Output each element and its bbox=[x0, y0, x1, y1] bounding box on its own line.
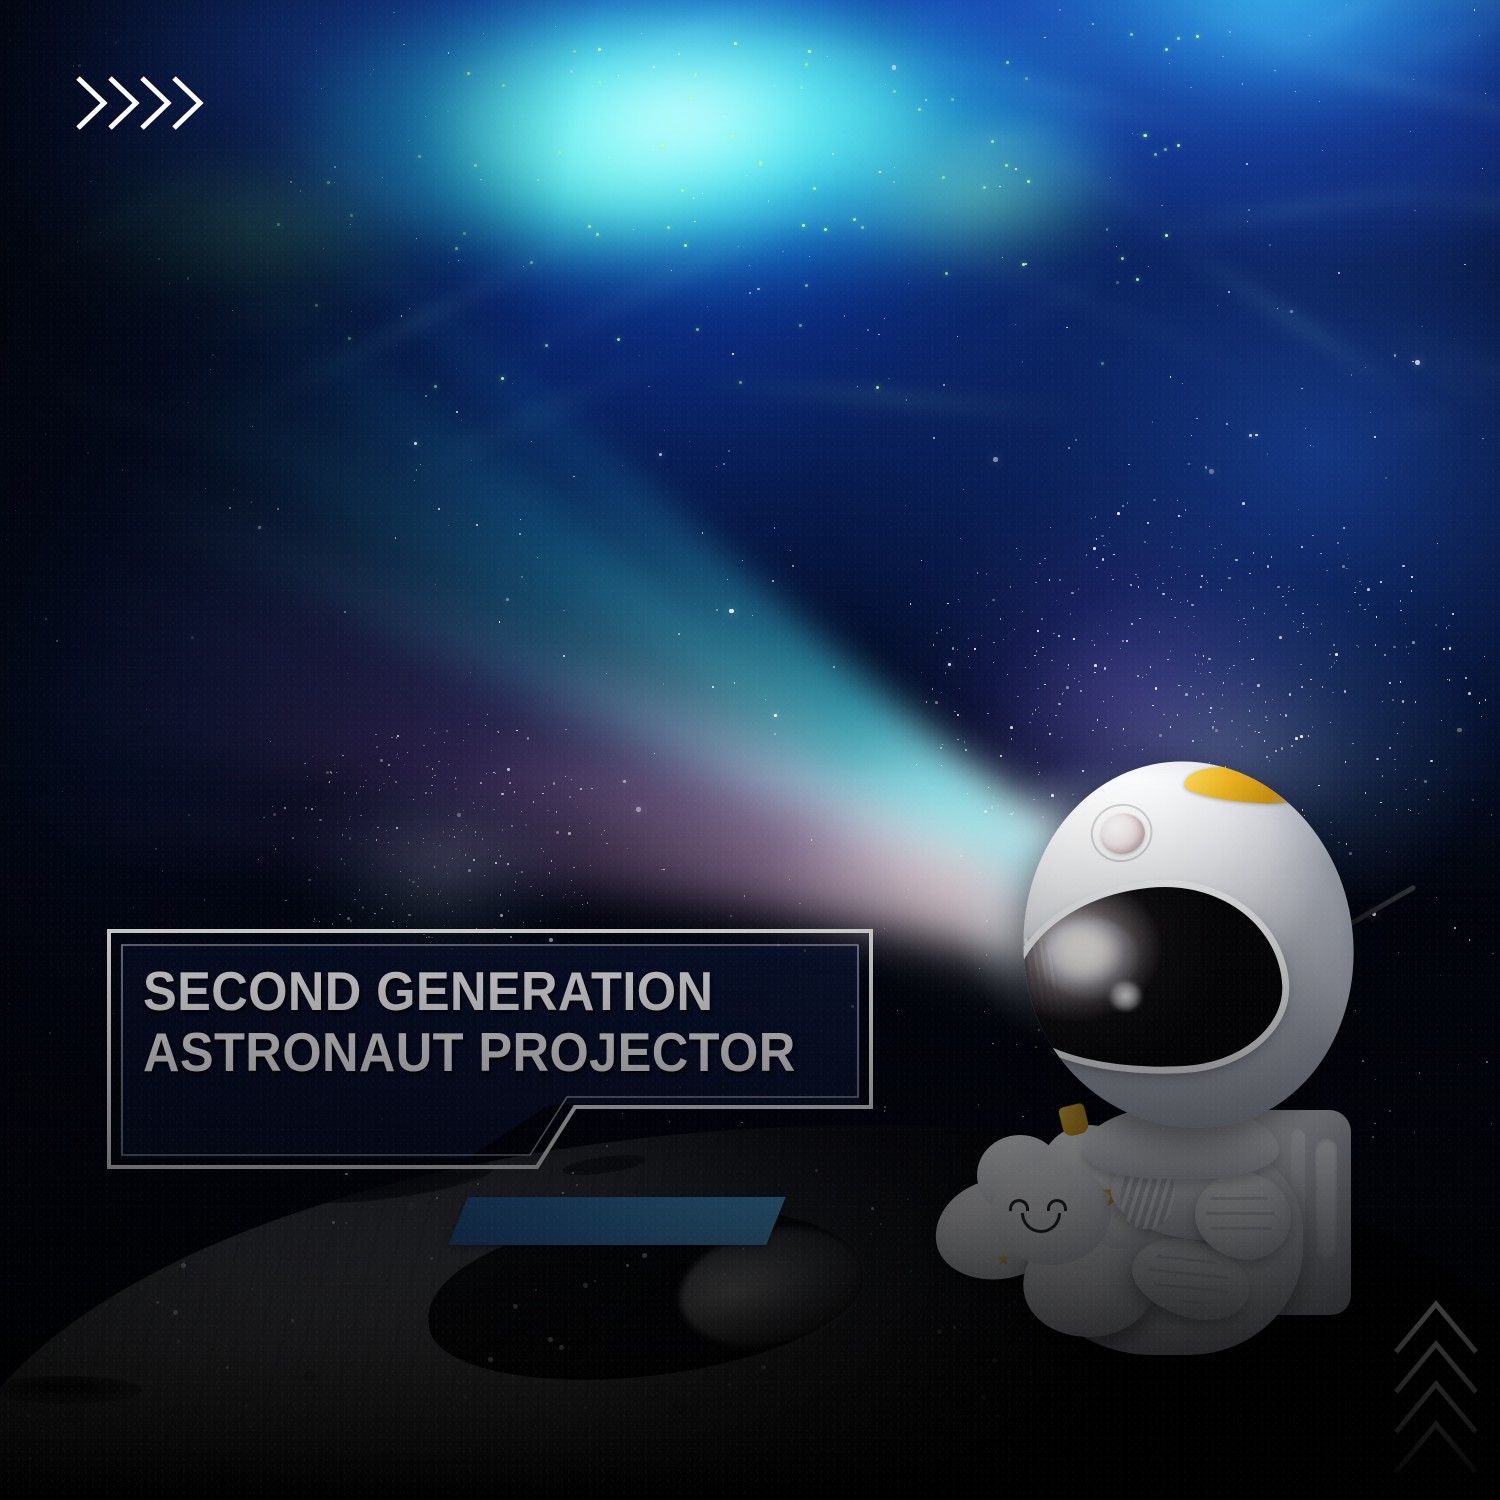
product-marketing-image: SECOND GENERATION ASTRONAUT PROJECTOR bbox=[0, 0, 1500, 1500]
bottom-vignette bbox=[0, 0, 1500, 1500]
